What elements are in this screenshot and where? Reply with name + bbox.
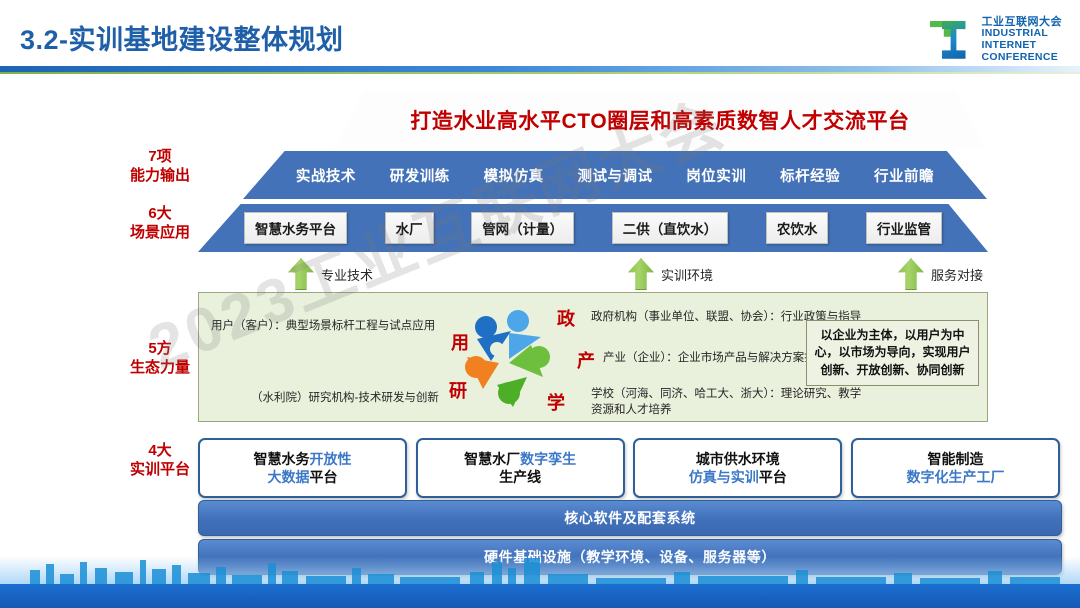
platform-1-line1: 智慧水务开放性 [254, 450, 352, 468]
side-label-ecosystem: 5方生态力量 [100, 340, 220, 378]
page-title: 3.2-实训基地建设整体规划 [20, 18, 344, 57]
platform-2-line2: 生产线 [499, 468, 541, 486]
scenario-chip-1[interactable]: 智慧水务平台 [244, 212, 347, 244]
scenario-band: 智慧水务平台 水厂 管网（计量） 二供（直饮水） 农饮水 行业监管 [198, 204, 988, 252]
arrow-group-1: 专业技术 [288, 258, 373, 290]
title-divider-green [0, 72, 1080, 74]
capability-item-7[interactable]: 行业前瞻 [874, 165, 934, 186]
capability-item-2[interactable]: 研发训练 [390, 165, 450, 186]
scenario-chip-6[interactable]: 行业监管 [866, 212, 942, 244]
capability-item-1[interactable]: 实战技术 [296, 165, 356, 186]
logo-title-en-3: CONFERENCE [982, 52, 1063, 64]
arrow-label-2: 实训环境 [661, 265, 713, 284]
scenario-chip-5[interactable]: 农饮水 [766, 212, 829, 244]
eco-char-chan: 产 [577, 347, 595, 373]
scenario-chip-2[interactable]: 水厂 [385, 212, 434, 244]
apex-headline: 打造水业高水平CTO圈层和高素质数智人才交流平台 [410, 105, 909, 135]
arrow-label-1: 专业技术 [321, 265, 373, 284]
arrow-label-3: 服务对接 [931, 265, 983, 284]
capability-item-3[interactable]: 模拟仿真 [484, 165, 544, 186]
platform-card-1[interactable]: 智慧水务开放性 大数据平台 [198, 438, 407, 498]
capability-item-6[interactable]: 标杆经验 [780, 165, 840, 186]
ecosystem-callout-box: 以企业为主体，以用户为中心，以市场为导向，实现用户创新、开放创新、协同创新 [806, 320, 979, 386]
skyline-silhouette-icon [0, 556, 1080, 586]
platform-card-2[interactable]: 智慧水厂数字孪生 生产线 [416, 438, 625, 498]
foundation-software-label: 核心软件及配套系统 [564, 508, 695, 528]
platform-3-line2: 仿真与实训平台 [689, 468, 787, 486]
eco-note-user: 用户（客户）：典型场景标杆工程与试点应用 [211, 319, 461, 335]
platform-3-line1: 城市供水环境 [696, 450, 780, 468]
arrow-group-3: 服务对接 [898, 258, 983, 290]
platform-row: 智慧水务开放性 大数据平台 智慧水厂数字孪生 生产线 城市供水环境 仿真与实训平… [198, 438, 1060, 494]
footer-skyline-decoration [0, 556, 1080, 608]
pyramid-apex: 打造水业高水平CTO圈层和高素质数智人才交流平台 [334, 91, 986, 148]
platform-4-line1: 智能制造 [927, 450, 983, 468]
capability-band: 实战技术 研发训练 模拟仿真 测试与调试 岗位实训 标杆经验 行业前瞻 [243, 151, 987, 199]
platform-card-3[interactable]: 城市供水环境 仿真与实训平台 [633, 438, 842, 498]
side-label-scenarios: 6大场景应用 [100, 205, 220, 243]
conference-logo: 工业互联网大会 INDUSTRIAL INTERNET CONFERENCE [928, 16, 1063, 64]
scenario-chip-3[interactable]: 管网（计量） [471, 212, 574, 244]
platform-1-line2: 大数据平台 [268, 468, 338, 486]
logo-text: 工业互联网大会 INDUSTRIAL INTERNET CONFERENCE [982, 16, 1063, 64]
up-arrow-icon [628, 258, 654, 290]
capability-item-4[interactable]: 测试与调试 [577, 165, 652, 186]
capability-item-5[interactable]: 岗位实训 [686, 165, 746, 186]
logo-mark-icon [928, 17, 974, 63]
arrow-group-2: 实训环境 [628, 258, 713, 290]
up-arrow-icon [288, 258, 314, 290]
side-label-capabilities: 7项能力输出 [100, 148, 220, 186]
up-arrow-icon [898, 258, 924, 290]
platform-2-line1: 智慧水厂数字孪生 [464, 450, 576, 468]
side-label-platforms: 4大实训平台 [100, 442, 220, 480]
scenario-chip-4[interactable]: 二供（直饮水） [612, 212, 729, 244]
platform-card-4[interactable]: 智能制造 数字化生产工厂 [851, 438, 1060, 498]
foundation-bar-software[interactable]: 核心软件及配套系统 [198, 500, 1062, 536]
people-collaboration-icon [447, 301, 561, 411]
eco-note-school: 学校（河海、同济、哈工大、浙大）：理论研究、教学 资源和人才培养 [591, 387, 881, 418]
ecosystem-panel: 用户（客户）：典型场景标杆工程与试点应用 （水利院）研究机构-技术研发与创新 政… [198, 292, 988, 422]
platform-4-line2: 数字化生产工厂 [906, 468, 1004, 486]
